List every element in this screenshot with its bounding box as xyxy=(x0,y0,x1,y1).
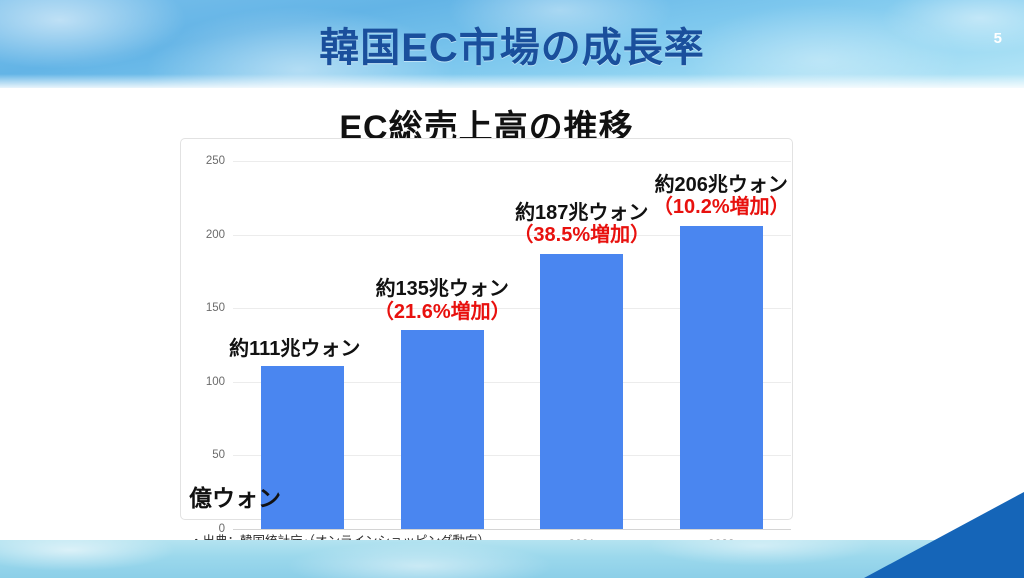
bar-growth-label: （38.5%増加） xyxy=(482,224,682,246)
page-title: 韓国EC市場の成長率 xyxy=(0,0,1024,88)
slide-header-band: 韓国EC市場の成長率 xyxy=(0,0,1024,88)
bar-data-label: 約111兆ウォン xyxy=(195,338,395,360)
bar-data-label: 約135兆ウォン（21.6%増加） xyxy=(342,278,542,323)
gridline xyxy=(233,161,791,162)
slide-body: EC総売上高の推移 050100150200250 20192020202120… xyxy=(0,88,1024,540)
page-number: 5 xyxy=(994,30,1002,47)
corner-wedge-decoration xyxy=(864,492,1024,578)
bar-amount-label: 約206兆ウォン xyxy=(621,174,821,196)
bar-amount-label: 約111兆ウォン xyxy=(195,338,395,360)
bar xyxy=(540,254,623,529)
y-axis-unit-label: 億ウォン xyxy=(189,479,281,513)
bar-growth-label: （21.6%増加） xyxy=(342,301,542,323)
bar xyxy=(401,330,484,529)
y-axis-tick-label: 50 xyxy=(181,449,225,461)
bar-data-label: 約206兆ウォン（10.2%増加） xyxy=(621,174,821,219)
y-axis-tick-label: 100 xyxy=(181,376,225,388)
y-axis-tick-label: 200 xyxy=(181,229,225,241)
bar xyxy=(680,226,763,529)
bar-growth-label: （10.2%増加） xyxy=(621,196,821,218)
y-axis-tick-label: 250 xyxy=(181,155,225,167)
y-axis-tick-label: 150 xyxy=(181,302,225,314)
bar-chart: 050100150200250 2019202020212022 約111兆ウォ… xyxy=(180,138,793,520)
bar-amount-label: 約135兆ウォン xyxy=(342,278,542,300)
